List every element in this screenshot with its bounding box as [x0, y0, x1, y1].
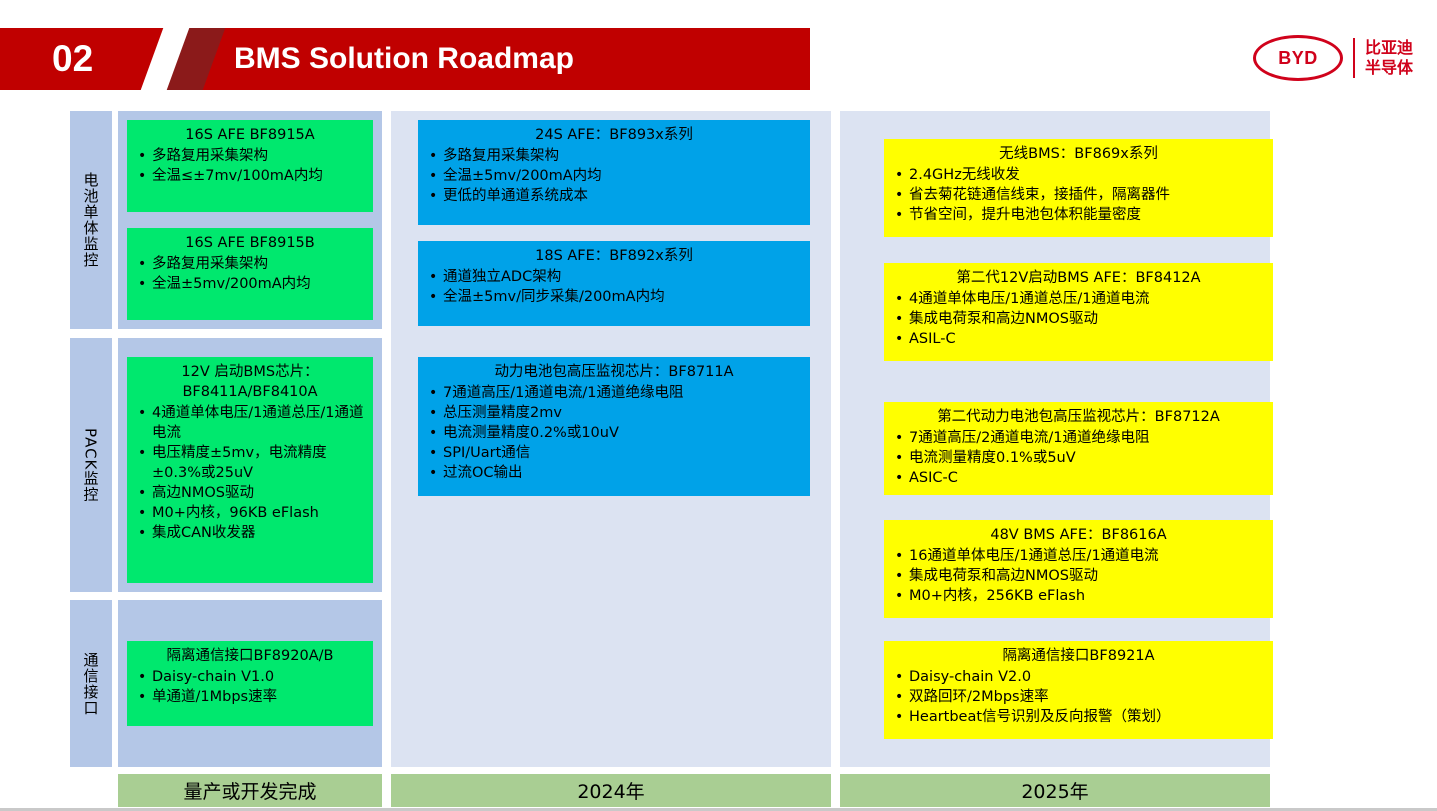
sidebar-item-label: 通信接口: [81, 652, 102, 716]
card-bullet: SPI/Uart通信: [426, 443, 802, 463]
card-title: 隔离通信接口BF8920A/B: [135, 646, 365, 666]
card-bullet: Heartbeat信号识别及反向报警（策划）: [892, 707, 1265, 727]
card-bf8616a[interactable]: 48V BMS AFE：BF8616A 16通道单体电压/1通道总压/1通道电流…: [884, 520, 1273, 618]
card-bullet: 4通道单体电压/1通道总压/1通道电流: [892, 289, 1265, 309]
card-bf893x[interactable]: 24S AFE：BF893x系列 多路复用采集架构 全温±5mv/200mA内均…: [418, 120, 810, 225]
sidebar-item-label: 电池单体监控: [81, 172, 102, 268]
card-bf8915b[interactable]: 16S AFE BF8915B 多路复用采集架构 全温±5mv/200mA内均: [127, 228, 373, 320]
card-bullet: 电压精度±5mv，电流精度±0.3%或25uV: [135, 443, 365, 483]
card-title: 动力电池包高压监视芯片：BF8711A: [426, 362, 802, 382]
card-bf8915a[interactable]: 16S AFE BF8915A 多路复用采集架构 全温≤±7mv/100mA内均: [127, 120, 373, 212]
card-bullets: 2.4GHz无线收发 省去菊花链通信线束，接插件，隔离器件 节省空间，提升电池包…: [892, 165, 1265, 225]
card-bullet: ASIC-C: [892, 468, 1265, 488]
timeline-label-text: 量产或开发完成: [183, 777, 316, 804]
card-title: 第二代动力电池包高压监视芯片：BF8712A: [892, 407, 1265, 427]
card-bullet: 7通道高压/1通道电流/1通道绝缘电阻: [426, 383, 802, 403]
card-bf8411a-bf8410a[interactable]: 12V 启动BMS芯片：BF8411A/BF8410A 4通道单体电压/1通道总…: [127, 357, 373, 583]
card-bullets: 7通道高压/2通道电流/1通道绝缘电阻 电流测量精度0.1%或5uV ASIC-…: [892, 428, 1265, 488]
card-bullet: 2.4GHz无线收发: [892, 165, 1265, 185]
card-bf8412a[interactable]: 第二代12V启动BMS AFE：BF8412A 4通道单体电压/1通道总压/1通…: [884, 263, 1273, 361]
card-title: 48V BMS AFE：BF8616A: [892, 525, 1265, 545]
card-bullet: 集成CAN收发器: [135, 523, 365, 543]
sidebar-item-label: PACK监控: [81, 428, 102, 502]
card-title: 12V 启动BMS芯片：BF8411A/BF8410A: [135, 362, 365, 402]
card-bullet: Daisy-chain V2.0: [892, 667, 1265, 687]
card-bullets: 4通道单体电压/1通道总压/1通道电流 电压精度±5mv，电流精度±0.3%或2…: [135, 403, 365, 543]
card-bullet: 电流测量精度0.1%或5uV: [892, 448, 1265, 468]
card-bullet: 全温±5mv/同步采集/200mA内均: [426, 287, 802, 307]
card-bf892x[interactable]: 18S AFE：BF892x系列 通道独立ADC架构 全温±5mv/同步采集/2…: [418, 241, 810, 326]
card-bullet: 7通道高压/2通道电流/1通道绝缘电阻: [892, 428, 1265, 448]
card-title: 隔离通信接口BF8921A: [892, 646, 1265, 666]
card-bullet: 集成电荷泵和高边NMOS驱动: [892, 309, 1265, 329]
card-title: 第二代12V启动BMS AFE：BF8412A: [892, 268, 1265, 288]
card-bf8712a[interactable]: 第二代动力电池包高压监视芯片：BF8712A 7通道高压/2通道电流/1通道绝缘…: [884, 402, 1273, 495]
card-bullet: M0+内核，256KB eFlash: [892, 586, 1265, 606]
card-bullets: Daisy-chain V1.0 单通道/1Mbps速率: [135, 667, 365, 707]
timeline-label-done[interactable]: 量产或开发完成: [118, 774, 382, 807]
card-bullet: 16通道单体电压/1通道总压/1通道电流: [892, 546, 1265, 566]
timeline-label-2025[interactable]: 2025年: [840, 774, 1270, 807]
sidebar-item-cell-monitor[interactable]: 电池单体监控: [70, 111, 112, 329]
card-bullet: ASIL-C: [892, 329, 1265, 349]
card-bf8921a[interactable]: 隔离通信接口BF8921A Daisy-chain V2.0 双路回环/2Mbp…: [884, 641, 1273, 739]
card-bullet: 全温±5mv/200mA内均: [135, 274, 365, 294]
card-bullet: 通道独立ADC架构: [426, 267, 802, 287]
card-bullet: 电流测量精度0.2%或10uV: [426, 423, 802, 443]
card-bullets: Daisy-chain V2.0 双路回环/2Mbps速率 Heartbeat信…: [892, 667, 1265, 727]
card-bullet: 集成电荷泵和高边NMOS驱动: [892, 566, 1265, 586]
card-bullet: M0+内核，96KB eFlash: [135, 503, 365, 523]
card-title: 16S AFE BF8915B: [135, 233, 365, 253]
card-bf8920ab[interactable]: 隔离通信接口BF8920A/B Daisy-chain V1.0 单通道/1Mb…: [127, 641, 373, 726]
card-bullet: 双路回环/2Mbps速率: [892, 687, 1265, 707]
card-bullet: 4通道单体电压/1通道总压/1通道电流: [135, 403, 365, 443]
card-bullet: 总压测量精度2mv: [426, 403, 802, 423]
timeline-label-2024[interactable]: 2024年: [391, 774, 831, 807]
timeline-label-text: 2024年: [577, 777, 644, 804]
card-bf8711a[interactable]: 动力电池包高压监视芯片：BF8711A 7通道高压/1通道电流/1通道绝缘电阻 …: [418, 357, 810, 496]
card-title: 24S AFE：BF893x系列: [426, 125, 802, 145]
timeline-label-text: 2025年: [1021, 777, 1088, 804]
card-bf869x[interactable]: 无线BMS：BF869x系列 2.4GHz无线收发 省去菊花链通信线束，接插件，…: [884, 139, 1273, 237]
card-bullet: 全温≤±7mv/100mA内均: [135, 166, 365, 186]
card-bullet: 全温±5mv/200mA内均: [426, 166, 802, 186]
card-bullet: 过流OC输出: [426, 463, 802, 483]
card-bullets: 多路复用采集架构 全温±5mv/200mA内均 更低的单通道系统成本: [426, 146, 802, 206]
card-title: 18S AFE：BF892x系列: [426, 246, 802, 266]
card-bullet: 多路复用采集架构: [426, 146, 802, 166]
card-bullet: 更低的单通道系统成本: [426, 186, 802, 206]
card-bullets: 4通道单体电压/1通道总压/1通道电流 集成电荷泵和高边NMOS驱动 ASIL-…: [892, 289, 1265, 349]
card-bullet: 单通道/1Mbps速率: [135, 687, 365, 707]
sidebar-item-cell-comm[interactable]: 通信接口: [70, 600, 112, 767]
card-title: 16S AFE BF8915A: [135, 125, 365, 145]
card-bullet: 节省空间，提升电池包体积能量密度: [892, 205, 1265, 225]
card-bullets: 多路复用采集架构 全温≤±7mv/100mA内均: [135, 146, 365, 186]
card-bullet: 多路复用采集架构: [135, 254, 365, 274]
card-bullet: Daisy-chain V1.0: [135, 667, 365, 687]
card-bullets: 7通道高压/1通道电流/1通道绝缘电阻 总压测量精度2mv 电流测量精度0.2%…: [426, 383, 802, 483]
card-bullet: 高边NMOS驱动: [135, 483, 365, 503]
card-bullet: 多路复用采集架构: [135, 146, 365, 166]
card-title: 无线BMS：BF869x系列: [892, 144, 1265, 164]
card-bullets: 多路复用采集架构 全温±5mv/200mA内均: [135, 254, 365, 294]
roadmap-grid: 电池单体监控 PACK监控 通信接口 16S AFE BF8915A 多路复用采…: [0, 0, 1437, 811]
card-bullet: 省去菊花链通信线束，接插件，隔离器件: [892, 185, 1265, 205]
card-bullets: 通道独立ADC架构 全温±5mv/同步采集/200mA内均: [426, 267, 802, 307]
card-bullets: 16通道单体电压/1通道总压/1通道电流 集成电荷泵和高边NMOS驱动 M0+内…: [892, 546, 1265, 606]
sidebar-item-cell-pack[interactable]: PACK监控: [70, 338, 112, 592]
